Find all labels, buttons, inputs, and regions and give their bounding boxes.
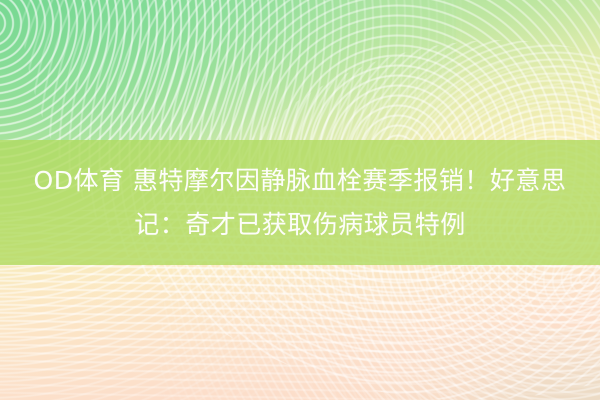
news-banner-image: OD体育 惠特摩尔因静脉血栓赛季报销！好意思记：奇才已获取伤病球员特例	[0, 0, 600, 400]
caption-headline: OD体育 惠特摩尔因静脉血栓赛季报销！好意思记：奇才已获取伤病球员特例	[10, 159, 590, 247]
caption-band: OD体育 惠特摩尔因静脉血栓赛季报销！好意思记：奇才已获取伤病球员特例	[0, 140, 600, 265]
